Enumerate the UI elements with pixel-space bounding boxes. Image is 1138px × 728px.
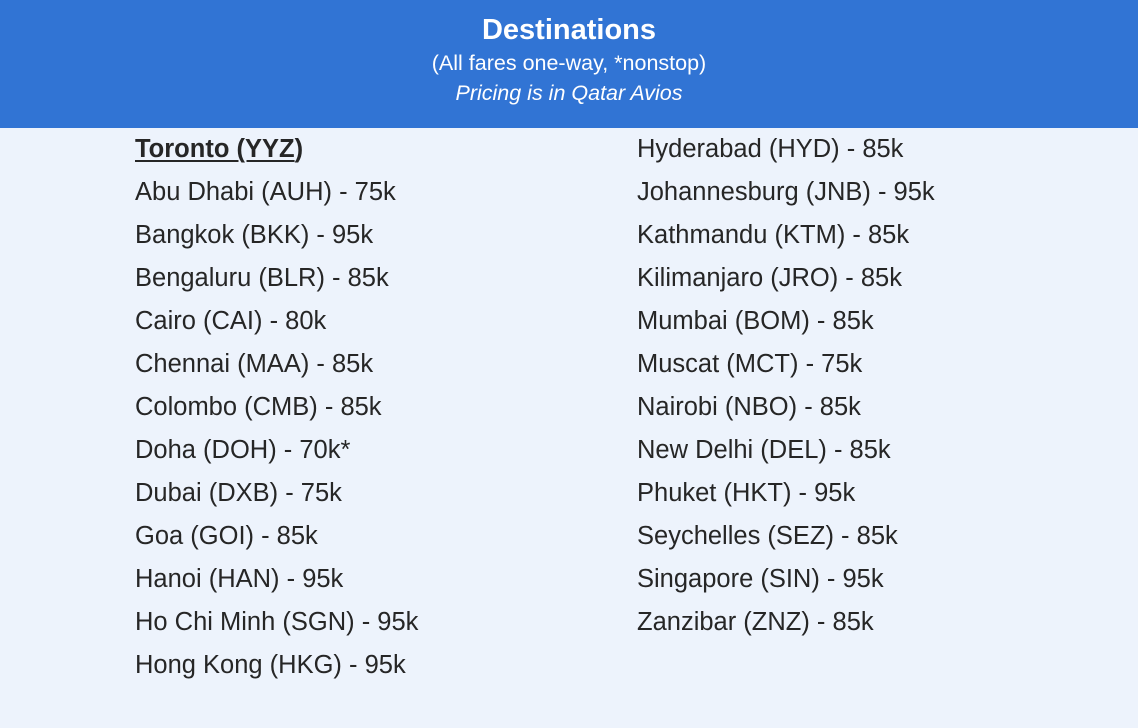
destinations-column-right: Hyderabad (HYD) - 85k Johannesburg (JNB)…	[637, 128, 1107, 644]
list-item: Muscat (MCT) - 75k	[637, 343, 1107, 386]
list-item: Doha (DOH) - 70k*	[135, 429, 615, 472]
list-item: Colombo (CMB) - 85k	[135, 386, 615, 429]
list-item: Johannesburg (JNB) - 95k	[637, 171, 1107, 214]
origin-city-heading: Toronto (YYZ)	[135, 128, 615, 171]
list-item: New Delhi (DEL) - 85k	[637, 429, 1107, 472]
destination-list-left: Toronto (YYZ) Abu Dhabi (AUH) - 75k Bang…	[135, 128, 615, 687]
header-subtitle-currency-note: Pricing is in Qatar Avios	[455, 78, 682, 108]
list-item: Nairobi (NBO) - 85k	[637, 386, 1107, 429]
list-item: Phuket (HKT) - 95k	[637, 472, 1107, 515]
list-item: Ho Chi Minh (SGN) - 95k	[135, 601, 615, 644]
list-item: Kathmandu (KTM) - 85k	[637, 214, 1107, 257]
destination-list-right: Hyderabad (HYD) - 85k Johannesburg (JNB)…	[637, 128, 1107, 644]
list-item: Goa (GOI) - 85k	[135, 515, 615, 558]
list-item: Kilimanjaro (JRO) - 85k	[637, 257, 1107, 300]
list-item: Bangkok (BKK) - 95k	[135, 214, 615, 257]
list-item: Abu Dhabi (AUH) - 75k	[135, 171, 615, 214]
page-title: Destinations	[482, 12, 656, 48]
destinations-column-left: Toronto (YYZ) Abu Dhabi (AUH) - 75k Bang…	[135, 128, 615, 687]
list-item: Hanoi (HAN) - 95k	[135, 558, 615, 601]
list-item: Dubai (DXB) - 75k	[135, 472, 615, 515]
list-item: Hyderabad (HYD) - 85k	[637, 128, 1107, 171]
list-item: Bengaluru (BLR) - 85k	[135, 257, 615, 300]
list-item: Mumbai (BOM) - 85k	[637, 300, 1107, 343]
list-item: Hong Kong (HKG) - 95k	[135, 644, 615, 687]
destinations-columns: Toronto (YYZ) Abu Dhabi (AUH) - 75k Bang…	[0, 128, 1138, 728]
list-item: Chennai (MAA) - 85k	[135, 343, 615, 386]
destinations-page: Destinations (All fares one-way, *nonsto…	[0, 0, 1138, 728]
list-item: Seychelles (SEZ) - 85k	[637, 515, 1107, 558]
list-item: Zanzibar (ZNZ) - 85k	[637, 601, 1107, 644]
origin-city-heading-underlined-text: Toronto (YYZ	[135, 135, 295, 163]
list-item: Cairo (CAI) - 80k	[135, 300, 615, 343]
origin-city-heading-tail: )	[295, 135, 304, 163]
list-item: Singapore (SIN) - 95k	[637, 558, 1107, 601]
page-header-banner: Destinations (All fares one-way, *nonsto…	[0, 0, 1138, 128]
header-subtitle-fares-note: (All fares one-way, *nonstop)	[432, 48, 706, 78]
